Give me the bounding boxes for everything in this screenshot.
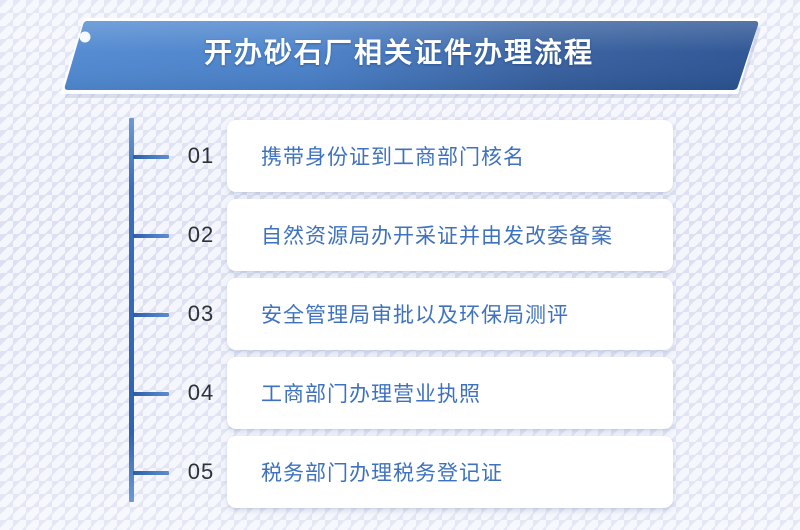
step-label: 税务部门办理税务登记证 (261, 457, 503, 487)
step-number: 04 (175, 357, 227, 429)
step-label: 工商部门办理营业执照 (261, 378, 481, 408)
step-card[interactable]: 携带身份证到工商部门核名 (227, 120, 673, 192)
step-card[interactable]: 税务部门办理税务登记证 (227, 436, 673, 508)
timeline-step-3[interactable]: 03 安全管理局审批以及环保局测评 (129, 278, 689, 350)
timeline-step-1[interactable]: 01 携带身份证到工商部门核名 (129, 120, 689, 192)
timeline-step-4[interactable]: 04 工商部门办理营业执照 (129, 357, 689, 429)
timeline-tick-icon (133, 392, 169, 396)
infographic-stage: 开办砂石厂相关证件办理流程 01 携带身份证到工商部门核名 02 自然资源局办开… (0, 0, 800, 530)
step-number: 05 (175, 436, 227, 508)
step-number: 01 (175, 120, 227, 192)
step-card[interactable]: 工商部门办理营业执照 (227, 357, 673, 429)
step-card[interactable]: 安全管理局审批以及环保局测评 (227, 278, 673, 350)
timeline-step-5[interactable]: 05 税务部门办理税务登记证 (129, 436, 689, 508)
step-number: 03 (175, 278, 227, 350)
step-label: 携带身份证到工商部门核名 (261, 141, 525, 171)
timeline-tick-icon (133, 313, 169, 317)
step-label: 安全管理局审批以及环保局测评 (261, 299, 569, 329)
timeline-tick-icon (133, 234, 169, 238)
timeline-tick-icon (133, 155, 169, 159)
timeline: 01 携带身份证到工商部门核名 02 自然资源局办开采证并由发改委备案 03 安… (0, 0, 800, 530)
step-card[interactable]: 自然资源局办开采证并由发改委备案 (227, 199, 673, 271)
step-number: 02 (175, 199, 227, 271)
timeline-step-2[interactable]: 02 自然资源局办开采证并由发改委备案 (129, 199, 689, 271)
timeline-tick-icon (133, 471, 169, 475)
step-label: 自然资源局办开采证并由发改委备案 (261, 220, 613, 250)
